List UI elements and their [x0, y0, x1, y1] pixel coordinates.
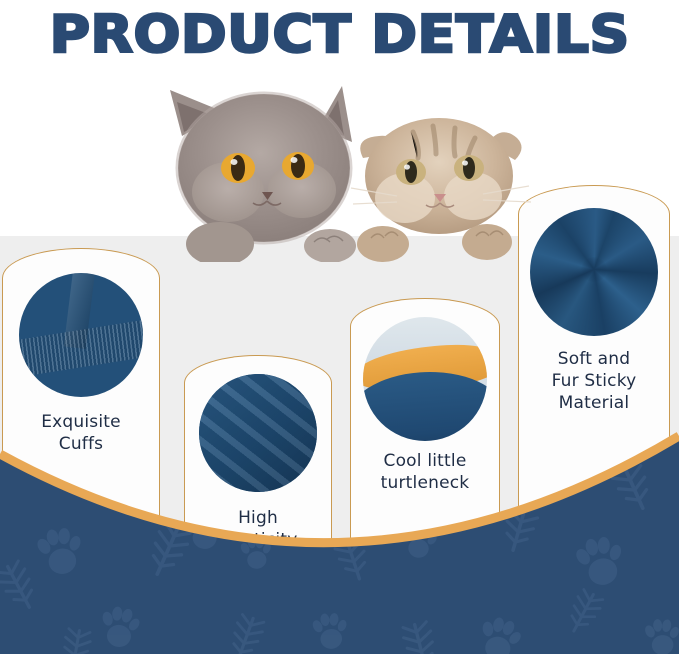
- navy-footer-band: [0, 400, 679, 654]
- photo-swirled-navy-fleece: [530, 208, 658, 336]
- product-details-infographic: PRODUCT DETAILS: [0, 0, 679, 654]
- navy-arc-shape: [0, 400, 679, 654]
- caption-line: Fur Sticky: [519, 371, 669, 393]
- caption-line: Soft and: [519, 349, 669, 371]
- title-band: PRODUCT DETAILS: [0, 0, 679, 70]
- photo-ribbed-cuff-closeup: [19, 273, 143, 397]
- page-title: PRODUCT DETAILS: [49, 9, 629, 61]
